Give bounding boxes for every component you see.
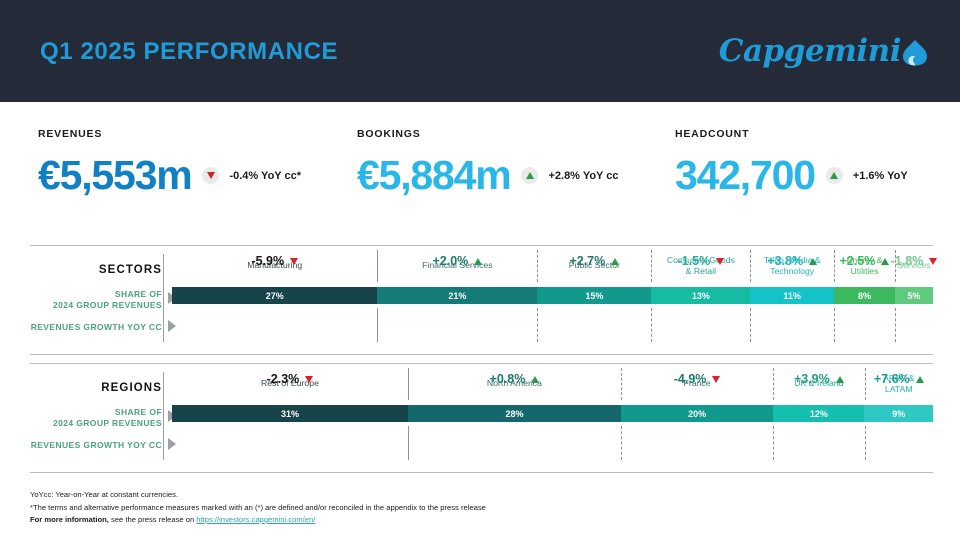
share-bar-segment: 20% bbox=[621, 405, 773, 422]
triangle-up-icon bbox=[809, 258, 817, 265]
share-bar-segment: 9% bbox=[864, 405, 932, 422]
kpi-headcount-label: HEADCOUNT bbox=[675, 128, 908, 140]
triangle-up-icon bbox=[526, 172, 534, 179]
section-bottom-rule bbox=[30, 354, 933, 355]
column-divider bbox=[621, 426, 622, 460]
growth-value: +7.6% bbox=[874, 372, 910, 386]
growth-cell: +0.8% bbox=[408, 364, 621, 394]
growth-value: +2.7% bbox=[569, 254, 605, 268]
triangle-down-icon bbox=[290, 258, 298, 265]
kpi-bookings-value: €5,884m bbox=[357, 155, 510, 196]
share-bar-segment: 31% bbox=[172, 405, 408, 422]
kpi-bookings: BOOKINGS €5,884m +2.8% YoY cc bbox=[357, 128, 619, 196]
triangle-up-icon bbox=[836, 376, 844, 383]
kpi-bookings-label: BOOKINGS bbox=[357, 128, 619, 140]
capgemini-logo: Capgemini bbox=[719, 30, 928, 72]
label-divider bbox=[163, 372, 164, 460]
share-bar: 27%21%15%13%11%8%5% bbox=[172, 287, 933, 304]
growth-cell: -2.3% bbox=[172, 364, 408, 394]
growth-cell: -1.8% bbox=[895, 246, 933, 276]
share-bar-segment: 15% bbox=[537, 287, 651, 304]
section-bottom-rule bbox=[30, 472, 933, 473]
triangle-up-icon bbox=[830, 172, 838, 179]
triangle-down-icon bbox=[305, 376, 313, 383]
kpi-row: REVENUES €5,553m -0.4% YoY cc* BOOKINGS … bbox=[0, 102, 960, 232]
column-divider bbox=[773, 426, 774, 460]
column-divider bbox=[865, 368, 866, 400]
section-sectors-title: SECTORS bbox=[99, 264, 162, 276]
triangle-up-icon bbox=[916, 376, 924, 383]
kpi-revenues: REVENUES €5,553m -0.4% YoY cc* bbox=[38, 128, 301, 196]
regions-growth-row-label: REVENUES GROWTH YOY CC bbox=[31, 440, 162, 451]
page-header: Q1 2025 PERFORMANCE Capgemini bbox=[0, 0, 960, 102]
share-bar: 31%28%20%12%9% bbox=[172, 405, 933, 422]
kpi-bookings-trend-badge bbox=[521, 167, 538, 184]
column-divider bbox=[651, 250, 652, 282]
column-divider bbox=[621, 368, 622, 400]
column-divider bbox=[377, 308, 378, 342]
column-divider bbox=[377, 250, 378, 282]
column-divider bbox=[773, 368, 774, 400]
column-divider bbox=[895, 308, 896, 342]
page-title: Q1 2025 PERFORMANCE bbox=[40, 38, 338, 66]
investors-link[interactable]: https://investors.capgemini.com/en/ bbox=[196, 515, 315, 524]
growth-value: -2.3% bbox=[267, 372, 300, 386]
triangle-down-icon bbox=[716, 258, 724, 265]
share-bar-segment: 21% bbox=[377, 287, 537, 304]
column-divider bbox=[537, 308, 538, 342]
regions-columns: 31%28%20%12%9%Rest of Europe-2.3%North A… bbox=[172, 364, 933, 472]
footnote-line-3-rest: see the press release on bbox=[109, 515, 196, 524]
sectors-share-row-label: SHARE OF 2024 GROUP REVENUES bbox=[53, 289, 162, 312]
growth-cell: +3.8% bbox=[750, 246, 834, 276]
kpi-headcount-trend-badge bbox=[826, 167, 843, 184]
growth-cell: -1.5% bbox=[651, 246, 750, 276]
growth-value: +3.8% bbox=[767, 254, 803, 268]
growth-value: +3.9% bbox=[794, 372, 830, 386]
growth-value: +0.8% bbox=[490, 372, 526, 386]
growth-cell: +7.6% bbox=[865, 364, 933, 394]
share-bar-segment: 27% bbox=[172, 287, 377, 304]
column-divider bbox=[750, 250, 751, 282]
share-bar-segment: 28% bbox=[408, 405, 621, 422]
growth-value: -5.9% bbox=[251, 254, 284, 268]
section-regions: REGIONS SHARE OF 2024 GROUP REVENUES REV… bbox=[30, 363, 933, 473]
column-divider bbox=[408, 368, 409, 400]
growth-value: +2.0% bbox=[432, 254, 468, 268]
footnote-line-3: For more information, see the press rele… bbox=[30, 514, 930, 527]
triangle-down-icon bbox=[712, 376, 720, 383]
column-divider bbox=[834, 250, 835, 282]
share-bar-segment: 5% bbox=[895, 287, 933, 304]
share-bar-segment: 13% bbox=[651, 287, 750, 304]
triangle-up-icon bbox=[881, 258, 889, 265]
triangle-up-icon bbox=[611, 258, 619, 265]
growth-value: +2.5% bbox=[840, 254, 876, 268]
share-bar-segment: 12% bbox=[773, 405, 864, 422]
kpi-headcount: HEADCOUNT 342,700 +1.6% YoY bbox=[675, 128, 908, 196]
kpi-bookings-delta: +2.8% YoY cc bbox=[548, 170, 618, 182]
kpi-revenues-delta: -0.4% YoY cc* bbox=[229, 170, 301, 182]
kpi-revenues-trend-badge bbox=[202, 167, 219, 184]
kpi-revenues-label: REVENUES bbox=[38, 128, 301, 140]
triangle-down-icon bbox=[207, 172, 215, 179]
capgemini-spade-icon bbox=[902, 39, 928, 67]
growth-cell: -4.9% bbox=[621, 364, 773, 394]
footnote-line-1: YoYcc: Year-on-Year at constant currenci… bbox=[30, 489, 930, 502]
section-sectors: SECTORS SHARE OF 2024 GROUP REVENUES REV… bbox=[30, 245, 933, 355]
growth-cell: +3.9% bbox=[773, 364, 864, 394]
triangle-down-icon bbox=[929, 258, 937, 265]
kpi-headcount-delta: +1.6% YoY bbox=[853, 170, 908, 182]
growth-value: -1.5% bbox=[678, 254, 711, 268]
footnote-line-2: *The terms and alternative performance m… bbox=[30, 502, 930, 515]
share-bar-segment: 8% bbox=[834, 287, 895, 304]
label-divider bbox=[163, 254, 164, 342]
sectors-growth-row-label: REVENUES GROWTH YOY CC bbox=[31, 322, 162, 333]
growth-cell: +2.5% bbox=[834, 246, 895, 276]
growth-cell: -5.9% bbox=[172, 246, 377, 276]
logo-wordmark: Capgemini bbox=[719, 36, 901, 67]
footnotes: YoYcc: Year-on-Year at constant currenci… bbox=[30, 489, 930, 527]
column-divider bbox=[537, 250, 538, 282]
section-regions-title: REGIONS bbox=[101, 382, 162, 394]
column-divider bbox=[750, 308, 751, 342]
triangle-up-icon bbox=[474, 258, 482, 265]
column-divider bbox=[651, 308, 652, 342]
triangle-up-icon bbox=[531, 376, 539, 383]
regions-share-row-label: SHARE OF 2024 GROUP REVENUES bbox=[53, 407, 162, 430]
column-divider bbox=[865, 426, 866, 460]
growth-cell: +2.0% bbox=[377, 246, 537, 276]
share-bar-segment: 11% bbox=[750, 287, 834, 304]
growth-cell: +2.7% bbox=[537, 246, 651, 276]
kpi-headcount-value: 342,700 bbox=[675, 155, 815, 196]
kpi-revenues-value: €5,553m bbox=[38, 155, 191, 196]
column-divider bbox=[834, 308, 835, 342]
column-divider bbox=[408, 426, 409, 460]
growth-value: -4.9% bbox=[674, 372, 707, 386]
sectors-columns: 27%21%15%13%11%8%5%Manufacturing-5.9%Fin… bbox=[172, 246, 933, 354]
footnote-bold-lead: For more information, bbox=[30, 515, 109, 524]
column-divider bbox=[895, 250, 896, 282]
